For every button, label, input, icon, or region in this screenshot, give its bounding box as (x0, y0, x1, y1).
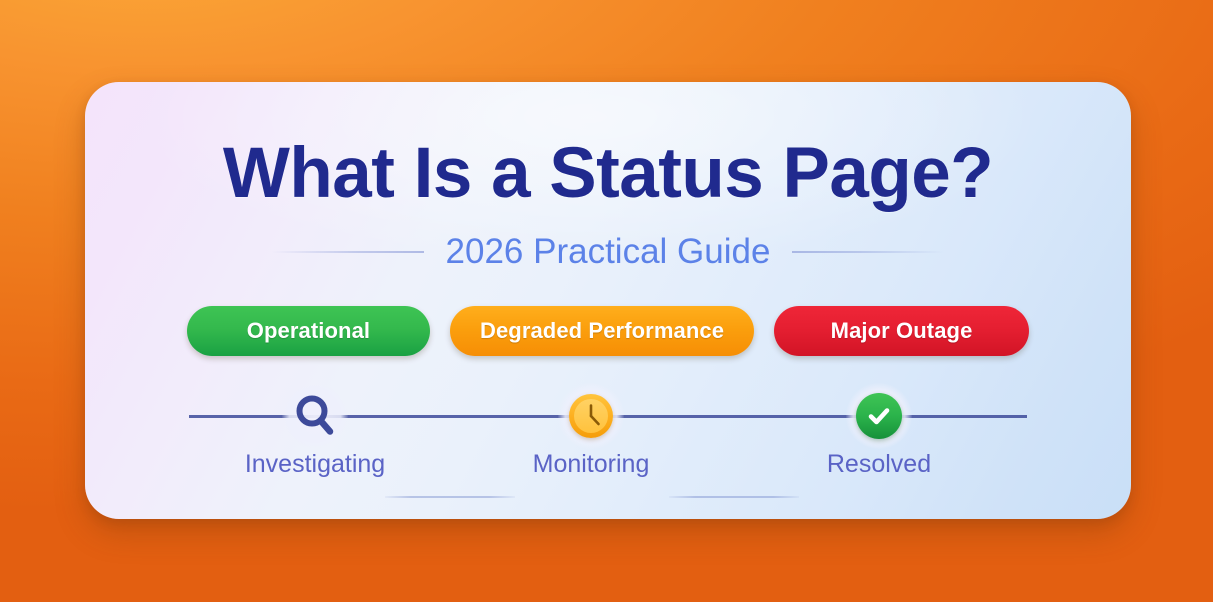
timeline-step-label-resolved: Resolved (794, 452, 964, 477)
subtitle-rule-right (792, 251, 944, 253)
status-pill-operational[interactable]: Operational (187, 306, 430, 356)
poster-canvas: What Is a Status Page? 2026 Practical Gu… (0, 0, 1213, 602)
magnifying-glass-icon (289, 390, 341, 442)
timeline-step-label-investigating: Investigating (230, 452, 400, 477)
timeline-label-rule-1 (385, 496, 515, 498)
page-title: What Is a Status Page? (85, 138, 1131, 209)
timeline-step-monitoring[interactable]: Monitoring (506, 400, 676, 477)
timeline-step-resolved[interactable]: Resolved (794, 400, 964, 477)
subtitle-rule-left (272, 251, 424, 253)
timeline-step-label-monitoring: Monitoring (506, 452, 676, 477)
status-pill-row: Operational Degraded Performance Major O… (85, 306, 1131, 356)
timeline-step-investigating[interactable]: Investigating (230, 400, 400, 477)
status-pill-major-outage[interactable]: Major Outage (774, 306, 1029, 356)
status-page-card: What Is a Status Page? 2026 Practical Gu… (85, 82, 1131, 519)
incident-timeline: Investigating (189, 400, 1027, 510)
timeline-label-rule-2 (669, 496, 799, 498)
check-circle-icon (853, 390, 905, 442)
clock-icon (565, 390, 617, 442)
page-subtitle: 2026 Practical Guide (446, 234, 771, 269)
subtitle-row: 2026 Practical Guide (85, 234, 1131, 269)
status-pill-degraded-performance[interactable]: Degraded Performance (450, 306, 754, 356)
